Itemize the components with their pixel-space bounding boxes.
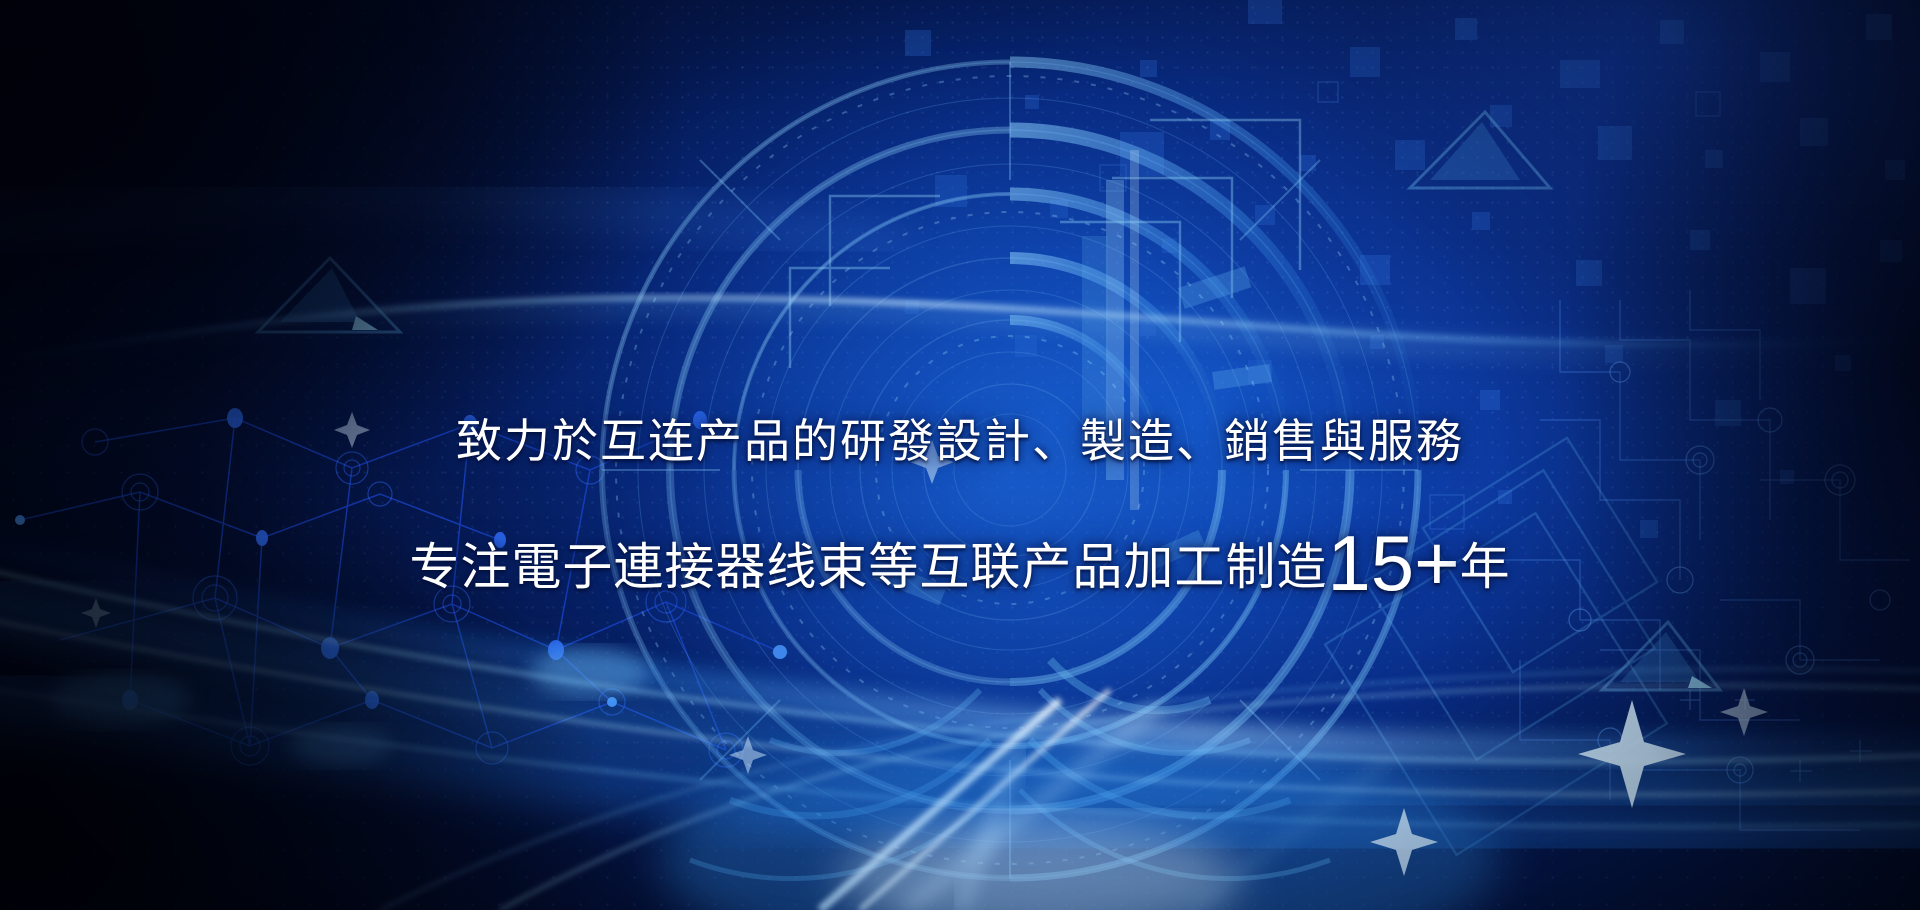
- banner-headline: 致力於互连产品的研發設計、製造、銷售與服務: [0, 418, 1920, 464]
- banner-subline-suffix: 年: [1460, 539, 1511, 595]
- banner-subline-prefix: 专注電子連接器线束等互联产品加工制造: [409, 539, 1327, 595]
- banner-subline: 专注電子連接器线束等互联产品加工制造15+年: [0, 524, 1920, 602]
- banner-stage: 致力於互连产品的研發設計、製造、銷售與服務 专注電子連接器线束等互联产品加工制造…: [0, 0, 1920, 910]
- banner-subline-number: 15+: [1327, 519, 1459, 607]
- banner-copy: 致力於互连产品的研發設計、製造、銷售與服務 专注電子連接器线束等互联产品加工制造…: [0, 418, 1920, 602]
